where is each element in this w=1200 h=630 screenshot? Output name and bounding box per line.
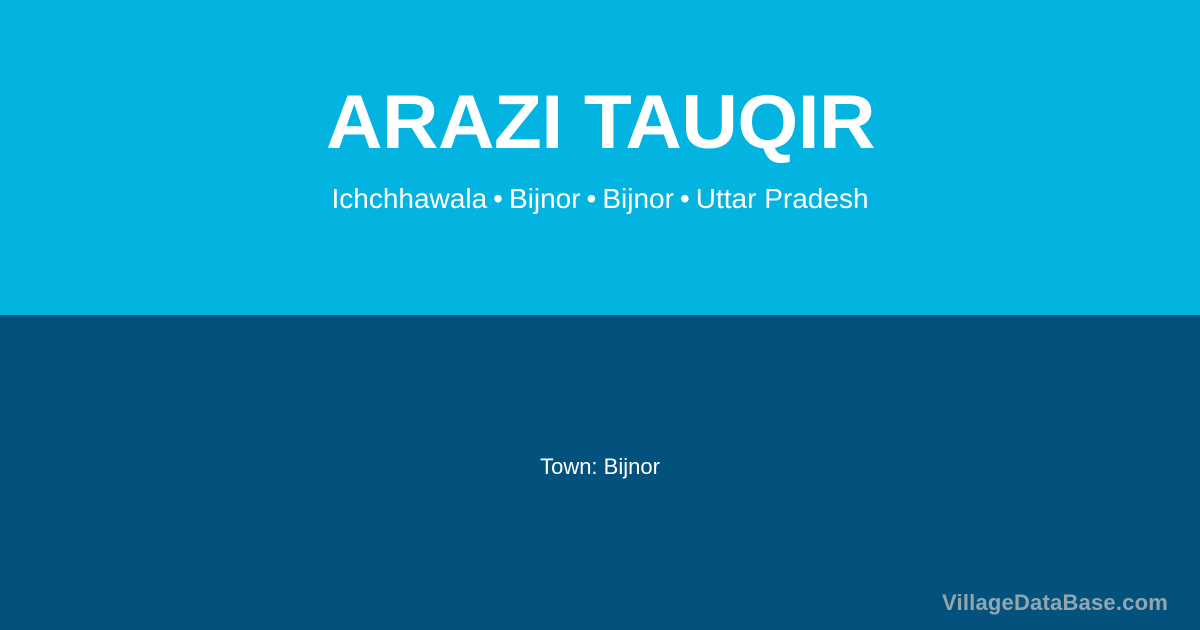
detail-panel: Town: Bijnor VillageDataBase.com: [0, 315, 1200, 630]
breadcrumb-item-state: Uttar Pradesh: [696, 183, 869, 214]
breadcrumb-separator-icon: •: [674, 183, 696, 214]
breadcrumb-separator-icon: •: [487, 183, 509, 214]
town-label: Town: Bijnor: [540, 454, 660, 480]
breadcrumb-item-block: Bijnor: [509, 183, 581, 214]
page-title: ARAZI TAUQIR: [326, 84, 875, 162]
breadcrumb-separator-icon: •: [581, 183, 603, 214]
site-watermark: VillageDataBase.com: [942, 590, 1168, 616]
village-info-card: ARAZI TAUQIR Ichchhawala•Bijnor•Bijnor•U…: [0, 0, 1200, 630]
breadcrumb-item-district: Bijnor: [602, 183, 674, 214]
hero-banner: ARAZI TAUQIR Ichchhawala•Bijnor•Bijnor•U…: [0, 0, 1200, 315]
breadcrumb-item-village: Ichchhawala: [331, 183, 487, 214]
breadcrumb: Ichchhawala•Bijnor•Bijnor•Uttar Pradesh: [331, 162, 868, 216]
